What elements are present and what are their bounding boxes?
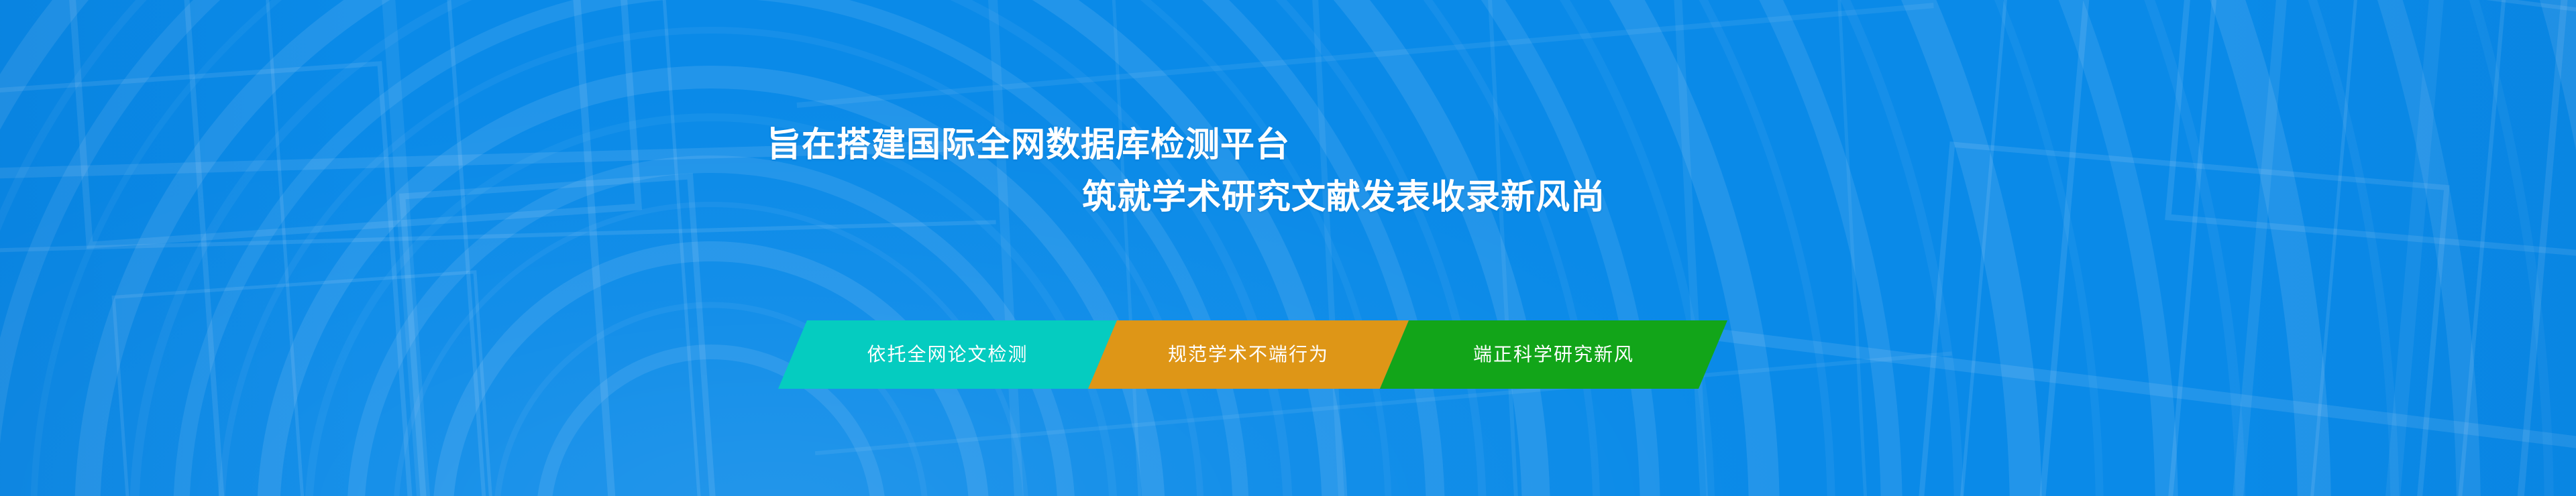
headline-line-1: 旨在搭建国际全网数据库检测平台 [767,127,2576,162]
feature-tag-1-label: 依托全网论文检测 [867,345,1028,364]
headline-line-2: 筑就学术研究文献发表收录新风尚 [1082,180,2576,214]
feature-tag-3-label: 端正科学研究新风 [1473,345,1634,364]
promo-banner: 旨在搭建国际全网数据库检测平台 筑就学术研究文献发表收录新风尚 依托全网论文检测… [0,0,2576,496]
feature-tag-2[interactable]: 规范学术不端行为 [1088,320,1409,389]
feature-tag-2-label: 规范学术不端行为 [1168,345,1329,364]
feature-tag-group: 依托全网论文检测 规范学术不端行为 端正科学研究新风 [778,320,1727,389]
feature-tag-1[interactable]: 依托全网论文检测 [778,320,1117,389]
feature-tag-3[interactable]: 端正科学研究新风 [1380,320,1727,389]
banner-content: 旨在搭建国际全网数据库检测平台 筑就学术研究文献发表收录新风尚 依托全网论文检测… [0,0,2576,496]
headline: 旨在搭建国际全网数据库检测平台 筑就学术研究文献发表收录新风尚 [0,127,2576,214]
